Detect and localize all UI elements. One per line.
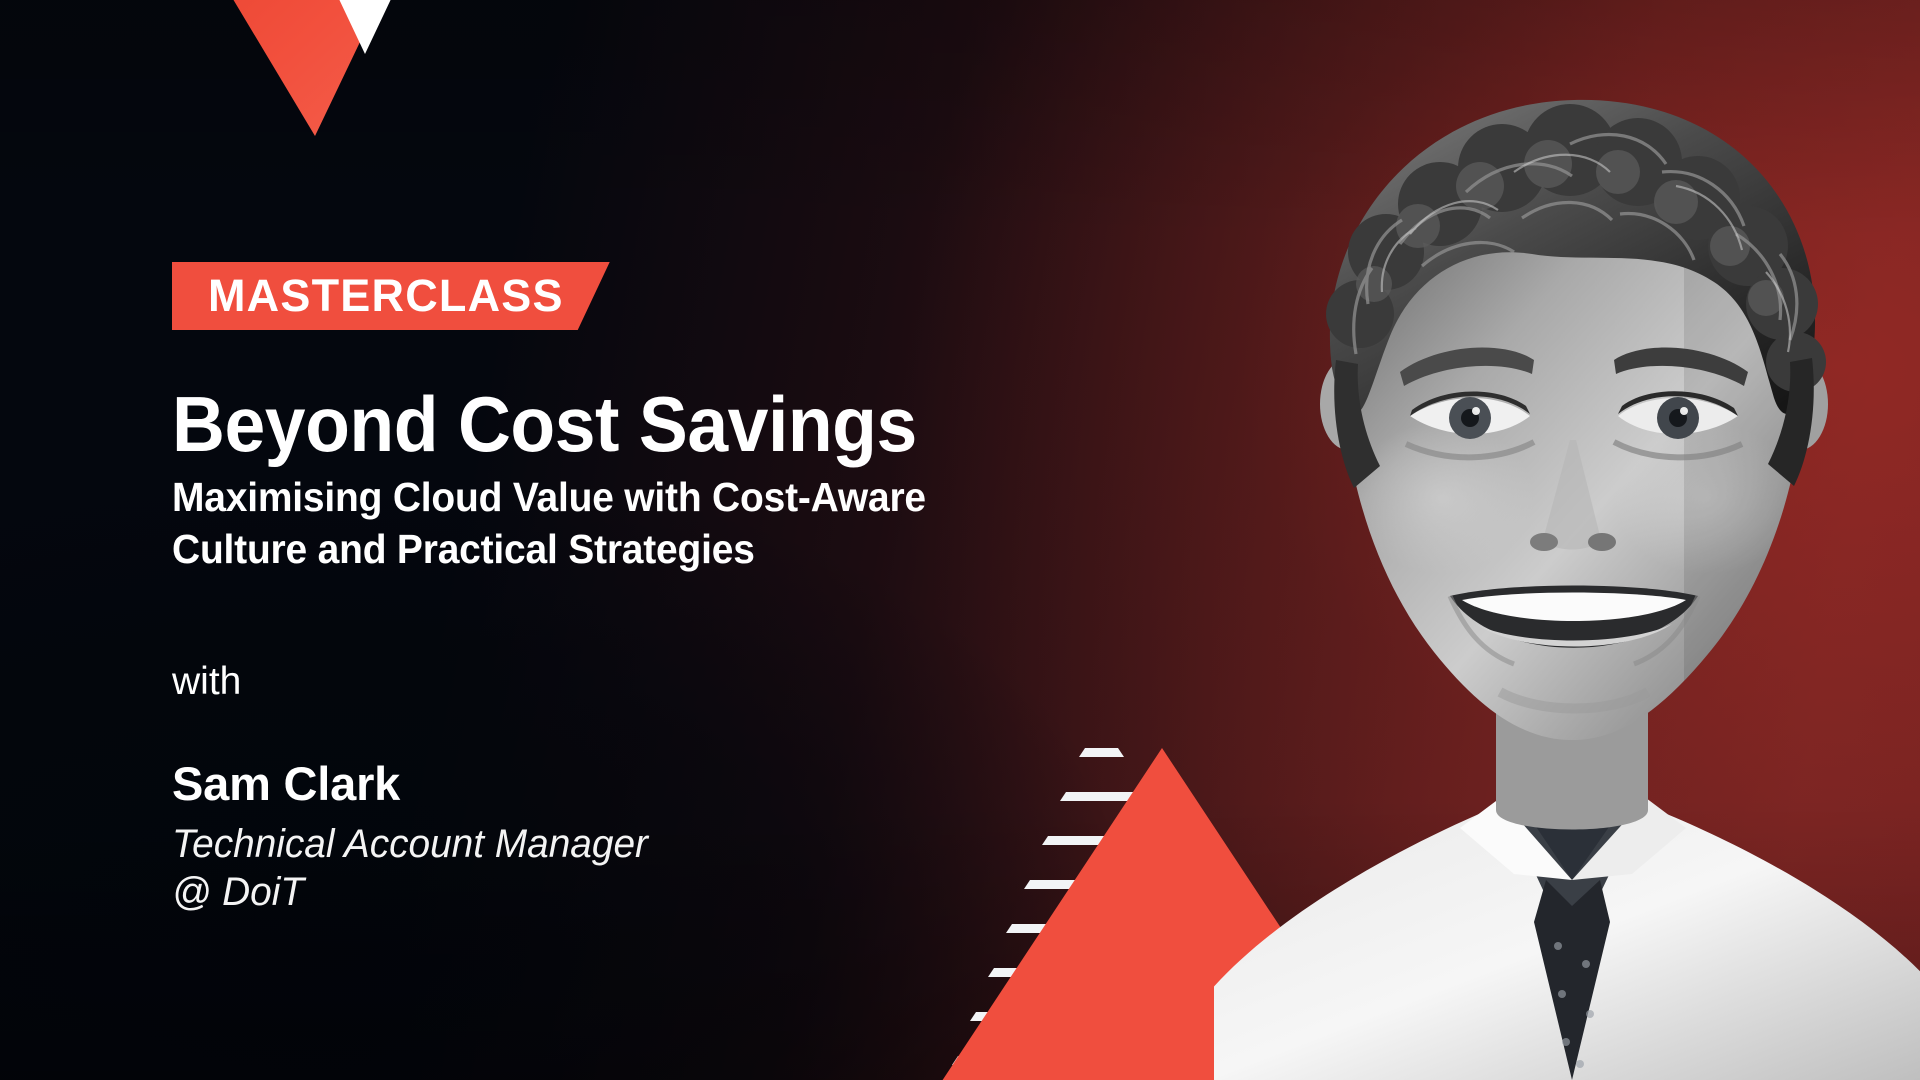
speaker-role: Technical Account Manager <box>172 820 1123 869</box>
page-subtitle-line-2: Culture and Practical Strategies <box>172 524 1103 575</box>
portrait-photo-sam-clark <box>1214 68 1920 1080</box>
masterclass-badge: MASTERCLASS <box>172 262 610 330</box>
page-title: Beyond Cost Savings <box>172 386 1093 462</box>
speaker-name: Sam Clark <box>172 758 1152 810</box>
portrait-shoulders <box>1214 790 1920 1080</box>
page-subtitle-line-1: Maximising Cloud Value with Cost-Aware <box>172 472 1103 523</box>
page-subtitle: Maximising Cloud Value with Cost-Aware C… <box>172 472 1103 575</box>
logo-red-chevron <box>176 0 426 136</box>
speaker-organisation: @ DoiT <box>172 868 1123 917</box>
masterclass-badge-label: MASTERCLASS <box>208 262 564 330</box>
promo-banner: MASTERCLASS Beyond Cost Savings Maximisi… <box>0 0 1920 1080</box>
doit-chevron-logo <box>176 0 436 176</box>
speaker-intro-label: with <box>172 661 1152 704</box>
content-column: MASTERCLASS Beyond Cost Savings Maximisi… <box>172 262 1152 917</box>
